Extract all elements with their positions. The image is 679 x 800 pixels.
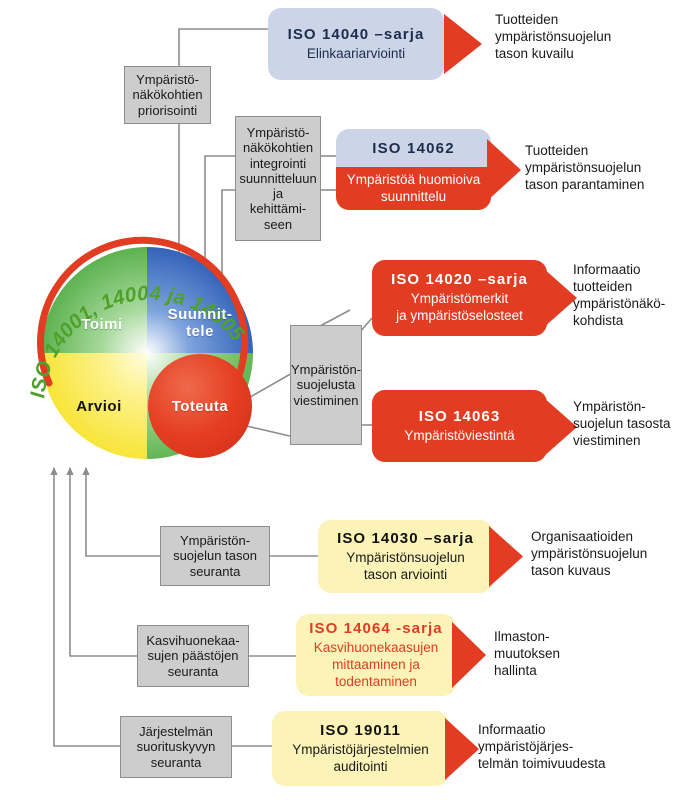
outcome-iso-14020: Informaatio tuotteiden ympäristönäkö- ko…	[573, 262, 678, 330]
chevron-icon-iso-14040	[444, 8, 484, 80]
outcome-iso-14064: Ilmaston- muutoksen hallinta	[494, 629, 614, 680]
chevron-icon-iso-14030	[489, 521, 525, 592]
wheel-label-suunnittele: Suunnit- tele	[160, 306, 240, 340]
iso-14064-sub3: todentaminen	[335, 674, 417, 690]
pdca-wheel: ISO 14001, 14004 ja 14005 Ympäristöjärje…	[22, 228, 272, 483]
iso-14062-sub1: Ympäristöä huomioiva	[347, 172, 481, 188]
diagram-canvas: ISO 14001, 14004 ja 14005 Ympäristöjärje…	[0, 0, 679, 800]
iso-14040-header: ISO 14040 –sarja	[288, 26, 425, 45]
process-box-kasvihuone-seuranta[interactable]: Kasvihuonekaa- sujen päästöjen seuranta	[137, 625, 249, 687]
standard-card-iso-14030[interactable]: ISO 14030 –sarja Ympäristönsuojelun taso…	[318, 520, 493, 593]
process-box-suorituskyky-seuranta[interactable]: Järjestelmän suorituskyvyn seuranta	[120, 716, 232, 778]
iso-14020-sub1: Ympäristömerkit	[411, 291, 509, 307]
iso-14064-sub2: mittaaminen ja	[332, 657, 420, 673]
iso-14020-sub2: ja ympäristöselosteet	[396, 308, 523, 324]
chevron-icon-iso-14064	[452, 616, 488, 694]
iso-14062-header: ISO 14062	[372, 140, 455, 157]
iso-14030-sub2: tason arviointi	[364, 567, 447, 583]
iso-14030-sub1: Ympäristönsuojelun	[346, 550, 465, 566]
chevron-icon-iso-14062	[487, 133, 523, 207]
iso-14040-sub: Elinkaariarviointi	[307, 46, 405, 62]
iso-14063-header: ISO 14063	[419, 408, 501, 427]
standard-card-iso-14063[interactable]: ISO 14063 Ympäristöviestintä	[372, 390, 547, 462]
wheel-label-toimi: Toimi	[60, 316, 144, 333]
standard-card-iso-14040[interactable]: ISO 14040 –sarja Elinkaariarviointi	[268, 8, 444, 80]
standard-card-iso-14064[interactable]: ISO 14064 -sarja Kasvihuonekaasujen mitt…	[296, 614, 456, 696]
standard-card-iso-14062[interactable]: ISO 14062 Ympäristöä huomioiva suunnitte…	[336, 129, 491, 210]
iso-14030-header: ISO 14030 –sarja	[337, 530, 474, 549]
standard-card-iso-14020[interactable]: ISO 14020 –sarja Ympäristömerkit ja ympä…	[372, 260, 547, 336]
iso-14064-sub1: Kasvihuonekaasujen	[314, 640, 439, 656]
iso-19011-sub1: Ympäristöjärjestelmien	[292, 742, 429, 758]
iso-14020-header: ISO 14020 –sarja	[391, 271, 528, 290]
iso-14064-header: ISO 14064 -sarja	[309, 620, 443, 639]
standard-card-iso-19011[interactable]: ISO 19011 Ympäristöjärjestelmien auditoi…	[272, 711, 449, 786]
outcome-iso-14062: Tuotteiden ympäristönsuojelun tason para…	[525, 143, 679, 194]
iso-14063-sub: Ympäristöviestintä	[404, 428, 514, 444]
iso-19011-sub2: auditointi	[333, 759, 387, 775]
process-box-integrointi[interactable]: Ympäristö- näkökohtien integrointi suunn…	[235, 116, 321, 241]
process-box-tason-seuranta[interactable]: Ympäristön- suojelun tason seuranta	[160, 526, 270, 586]
outcome-iso-19011: Informaatio ympäristöjärjes- telmän toim…	[478, 722, 673, 773]
wheel-label-arvioi: Arvioi	[54, 398, 144, 415]
chevron-icon-iso-19011	[445, 713, 481, 785]
process-box-viestiminen[interactable]: Ympäristön- suojelusta viestiminen	[290, 325, 362, 445]
outcome-iso-14063: Ympäristön- suojelun tasosta viestiminen	[573, 399, 678, 450]
outcome-iso-14040: Tuotteiden ympäristönsuojelun tason kuva…	[495, 12, 670, 63]
iso-14062-sub2: suunnittelu	[347, 189, 481, 205]
outcome-iso-14030: Organisaatioiden ympäristönsuojelun taso…	[531, 529, 679, 580]
process-box-prioriointi[interactable]: Ympäristö- näkökohtien priorisointi	[124, 66, 211, 124]
iso-19011-header: ISO 19011	[320, 722, 401, 741]
wheel-label-toteuta: Toteuta	[160, 398, 240, 415]
